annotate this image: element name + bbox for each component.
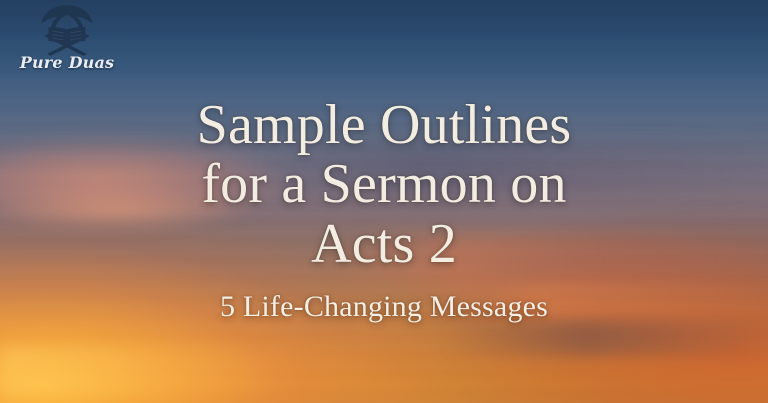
- hero-text-block: Sample Outlines for a Sermon on Acts 2 5…: [0, 0, 768, 403]
- page-title: Sample Outlines for a Sermon on Acts 2: [197, 96, 572, 274]
- featured-image-canvas: Pure Duas Sample Outlines for a Sermon o…: [0, 0, 768, 403]
- title-line-2: for a Sermon on: [201, 153, 566, 215]
- page-subtitle: 5 Life-Changing Messages: [220, 290, 548, 323]
- title-line-3: Acts 2: [311, 213, 457, 275]
- title-line-1: Sample Outlines: [197, 94, 572, 156]
